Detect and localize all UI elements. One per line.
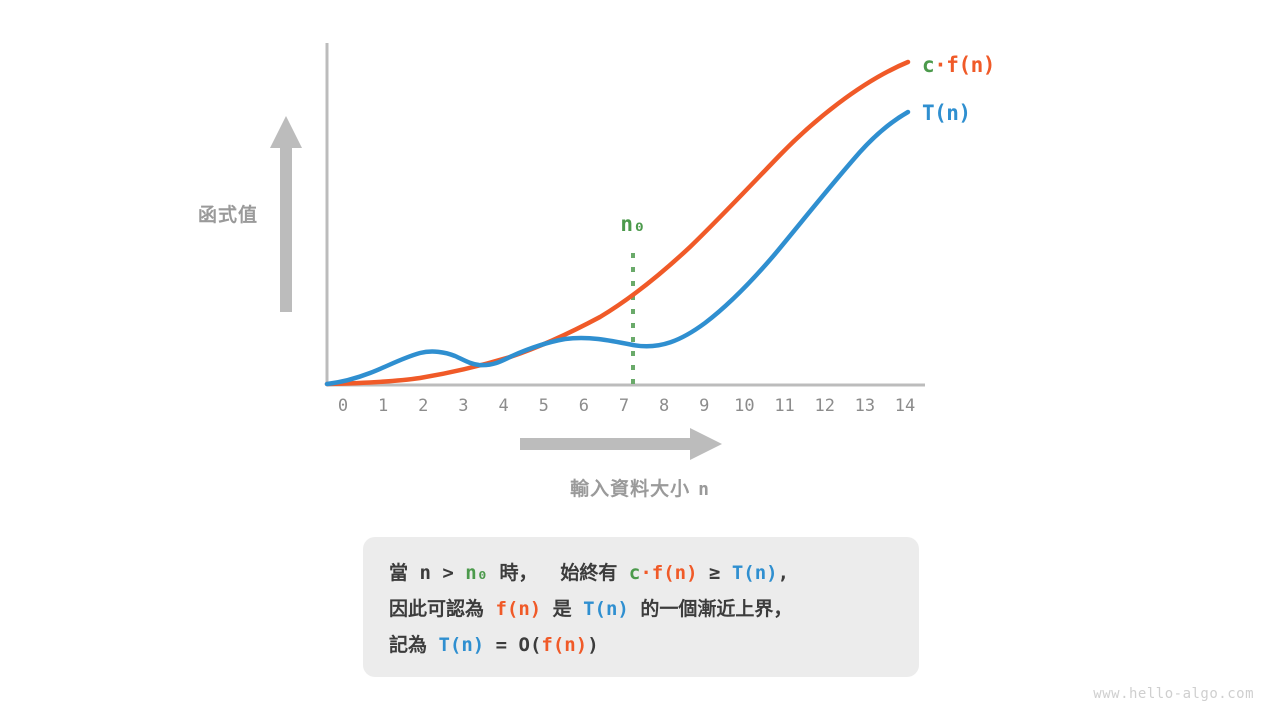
legend-label-cfn: c·f(n) xyxy=(922,53,995,77)
note-token: 記為 xyxy=(389,634,438,656)
note-token: n₀ xyxy=(465,562,488,584)
explanation-note-box: 當 n > n₀ 時， 始終有 c·f(n) ≥ T(n), 因此可認為 f(n… xyxy=(363,537,919,677)
x-tick-label: 0 xyxy=(338,396,348,416)
x-tick-label: 6 xyxy=(579,396,589,416)
note-line-1: 當 n > n₀ 時， 始終有 c·f(n) ≥ T(n), xyxy=(389,555,919,591)
n0-label: n₀ xyxy=(620,212,645,236)
note-token: T(n) xyxy=(438,634,484,656)
curve-tn xyxy=(327,112,908,384)
x-tick-label: 2 xyxy=(418,396,428,416)
x-tick-label: 5 xyxy=(539,396,549,416)
note-token: c xyxy=(629,562,640,584)
note-token: f(n) xyxy=(495,598,541,620)
x-axis-direction-arrow xyxy=(520,428,722,460)
x-tick-label: 3 xyxy=(458,396,468,416)
x-tick-label: 8 xyxy=(659,396,669,416)
x-tick-label: 7 xyxy=(619,396,629,416)
x-tick-label: 9 xyxy=(699,396,709,416)
note-token: 的一個漸近上界， xyxy=(629,598,792,620)
legend-cfn-constant: c xyxy=(922,53,934,77)
x-tick-label: 14 xyxy=(895,396,915,416)
note-token: 因此可認為 xyxy=(389,598,495,620)
note-token: 是 xyxy=(541,598,583,620)
note-line-3: 記為 T(n) = O(f(n)) xyxy=(389,627,919,663)
note-token: = O( xyxy=(484,634,541,656)
x-tick-label: 12 xyxy=(814,396,834,416)
y-axis-label: 函式值 xyxy=(180,200,276,227)
x-axis-label-variable: n xyxy=(690,479,710,500)
note-token: ) xyxy=(587,634,598,656)
note-token: 時， 始終有 xyxy=(488,562,629,584)
note-token: ·f(n) xyxy=(640,562,697,584)
curve-cfn xyxy=(327,62,908,384)
x-axis-label-text: 輸入資料大小 xyxy=(570,478,690,500)
legend-cfn-function: ·f(n) xyxy=(934,53,995,77)
note-line-2: 因此可認為 f(n) 是 T(n) 的一個漸近上界， xyxy=(389,591,919,627)
x-tick-label: 1 xyxy=(378,396,388,416)
note-token: f(n) xyxy=(541,634,587,656)
x-tick-label: 13 xyxy=(855,396,875,416)
x-tick-label: 10 xyxy=(734,396,754,416)
note-token: T(n) xyxy=(583,598,629,620)
x-tick-label: 4 xyxy=(498,396,508,416)
note-token: ≥ xyxy=(698,562,732,584)
figure-canvas: 函式值 輸入資料大小n n₀ c·f(n) T(n) 0123456789101… xyxy=(0,0,1280,720)
note-token: , xyxy=(778,562,789,584)
watermark: www.hello-algo.com xyxy=(1093,686,1254,702)
note-token: 當 n > xyxy=(389,562,465,584)
legend-label-tn: T(n) xyxy=(922,101,971,125)
x-axis-label: 輸入資料大小n xyxy=(440,474,840,501)
x-tick-label: 11 xyxy=(774,396,794,416)
note-token: T(n) xyxy=(732,562,778,584)
